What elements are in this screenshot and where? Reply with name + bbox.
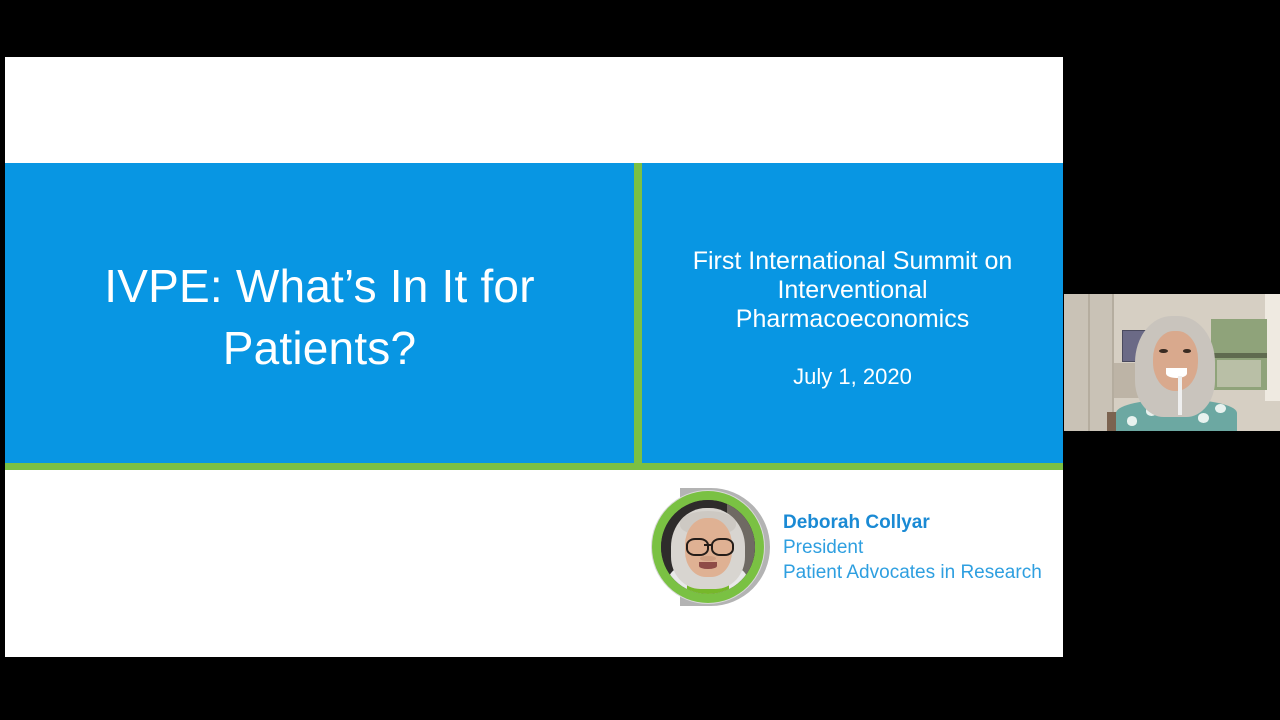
banner-vertical-divider bbox=[634, 163, 642, 470]
speaker-credit: Deborah Collyar President Patient Advoca… bbox=[650, 477, 1063, 617]
speaker-text-block: Deborah Collyar President Patient Advoca… bbox=[783, 510, 1042, 585]
avatar-photo bbox=[661, 500, 755, 594]
speaker-organization: Patient Advocates in Research bbox=[783, 560, 1042, 585]
event-name: First International Summit on Interventi… bbox=[673, 247, 1033, 334]
presentation-slide: IVPE: What’s In It for Patients? First I… bbox=[5, 57, 1063, 657]
screen-share-viewport: IVPE: What’s In It for Patients? First I… bbox=[0, 0, 1280, 720]
webcam-video-thumbnail[interactable] bbox=[1064, 294, 1280, 431]
slide-event-pane: First International Summit on Interventi… bbox=[642, 163, 1063, 470]
avatar bbox=[650, 485, 770, 610]
slide-top-whitespace bbox=[5, 57, 1063, 163]
speaker-role: President bbox=[783, 535, 1042, 560]
slide-title-pane: IVPE: What’s In It for Patients? bbox=[5, 163, 634, 470]
speaker-name: Deborah Collyar bbox=[783, 510, 1042, 535]
page-title: IVPE: What’s In It for Patients? bbox=[50, 255, 590, 379]
event-date: July 1, 2020 bbox=[793, 364, 912, 390]
